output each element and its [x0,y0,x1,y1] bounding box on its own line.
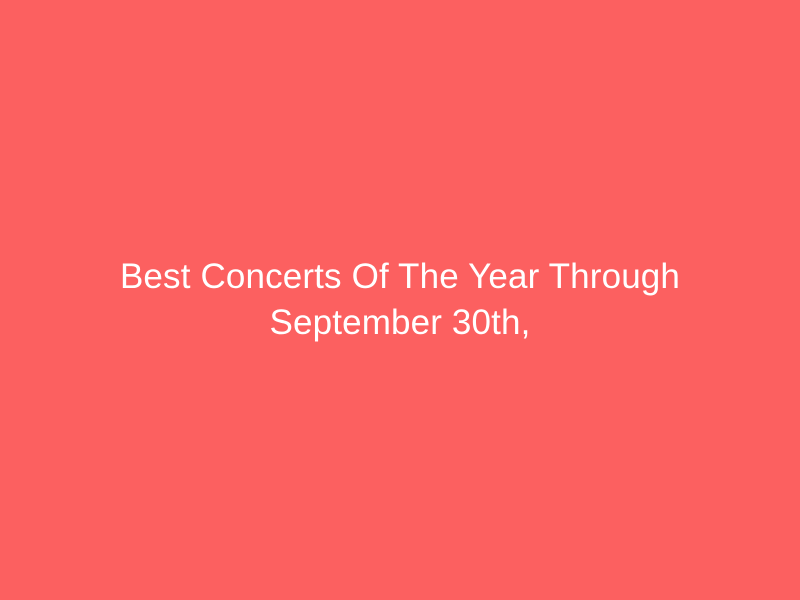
placeholder-card: Best Concerts Of The Year Through Septem… [0,0,800,600]
page-title: Best Concerts Of The Year Through Septem… [48,254,752,346]
title-block: Best Concerts Of The Year Through Septem… [48,254,752,346]
